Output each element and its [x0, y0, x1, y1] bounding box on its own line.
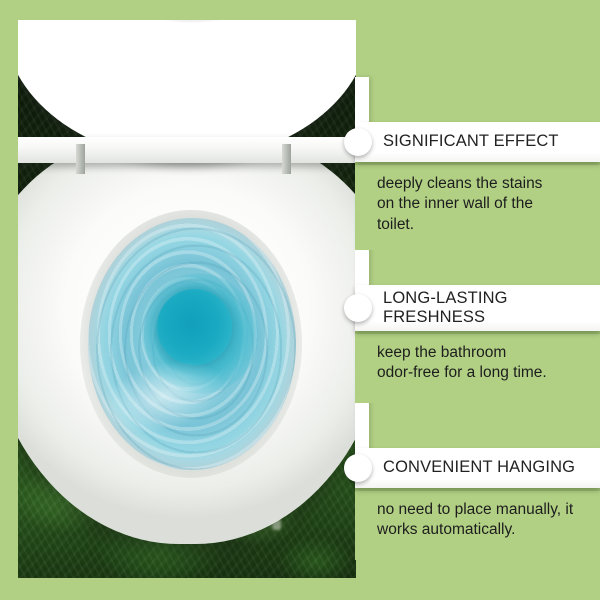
feature-title-text: SIGNIFICANT EFFECT — [383, 132, 559, 151]
feature-body-text: deeply cleans the stains on the inner wa… — [377, 175, 542, 233]
circle-bullet-icon — [344, 294, 372, 322]
feature-title-bar: CONVENIENT HANGING — [355, 448, 600, 488]
product-feature-poster: SIGNIFICANT EFFECT deeply cleans the sta… — [0, 0, 600, 600]
feature-title-text: CONVENIENT HANGING — [383, 458, 575, 477]
toilet-lid-hinge-left — [76, 144, 85, 174]
blue-swirling-water — [88, 218, 296, 470]
toilet-lid-hinge-right — [282, 144, 291, 174]
feature-body-panel: no need to place manually, it works auto… — [355, 488, 600, 560]
feature-body-panel: deeply cleans the stains on the inner wa… — [355, 162, 600, 250]
feature-title-text: LONG-LASTING FRESHNESS — [383, 289, 508, 328]
feature-card-convenient-hanging: CONVENIENT HANGING no need to place manu… — [355, 448, 600, 560]
circle-bullet-icon — [344, 454, 372, 482]
feature-title-bar: LONG-LASTING FRESHNESS — [355, 285, 600, 331]
feature-body-text: keep the bathroom odor-free for a long t… — [377, 344, 547, 381]
toilet-lid-lip — [18, 137, 356, 163]
feature-card-significant-effect: SIGNIFICANT EFFECT deeply cleans the sta… — [355, 122, 600, 250]
circle-bullet-icon — [344, 128, 372, 156]
feature-body-text: no need to place manually, it works auto… — [377, 501, 573, 538]
toilet-bowl-photo — [18, 20, 356, 578]
feature-card-long-lasting-freshness: LONG-LASTING FRESHNESS keep the bathroom… — [355, 285, 600, 403]
feature-title-bar: SIGNIFICANT EFFECT — [355, 122, 600, 162]
feature-body-panel: keep the bathroom odor-free for a long t… — [355, 331, 600, 403]
